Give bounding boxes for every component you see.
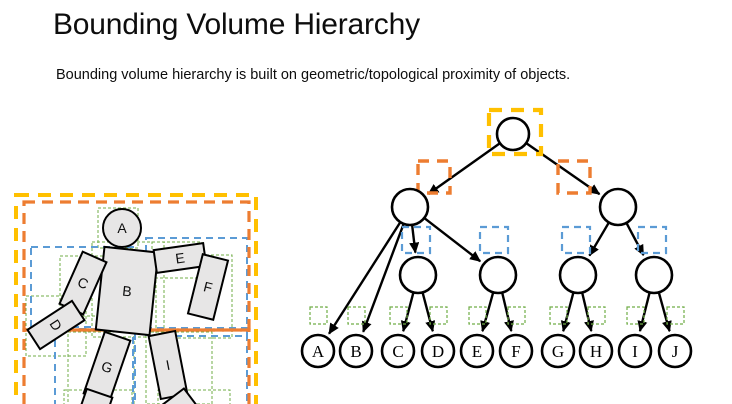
tree-marker-level1: [418, 161, 450, 193]
tree-edge: [563, 293, 573, 331]
right-figure-tree: ABCDEFGHIJ: [290, 95, 732, 395]
page-subtitle: Bounding volume hierarchy is built on ge…: [56, 67, 570, 83]
tree-edge: [423, 293, 433, 331]
slide-canvas: Bounding Volume Hierarchy Bounding volum…: [0, 0, 732, 404]
tree-node-level1-0[interactable]: [392, 189, 428, 225]
tree-node-level2-0[interactable]: [400, 257, 436, 293]
tree-edge: [403, 293, 413, 331]
tree-node-root[interactable]: [497, 118, 529, 150]
tree-edge: [640, 293, 650, 331]
tree-edges: [329, 143, 670, 333]
tree-marker-level3: [550, 307, 567, 324]
tree-edge: [482, 293, 493, 331]
tree-edge: [425, 218, 481, 261]
tree-edge: [412, 225, 415, 252]
tree-leaf-label-d: D: [432, 342, 444, 361]
tree-leaf-label-b: B: [350, 342, 361, 361]
tree-marker-level3: [390, 307, 407, 324]
tree-marker-level3: [348, 307, 365, 324]
tree-marker-level2: [480, 227, 508, 253]
tree-edge: [363, 224, 403, 331]
tree-edge: [627, 223, 644, 255]
tree-leaf-label-h: H: [590, 342, 602, 361]
tree-edge: [502, 293, 511, 331]
page-title: Bounding Volume Hierarchy: [53, 8, 420, 42]
tree-edge: [582, 293, 591, 331]
tree-leaf-label-c: C: [392, 342, 403, 361]
tree-marker-level3: [310, 307, 327, 324]
tree-leaf-label-g: G: [552, 342, 564, 361]
tree-node-level2-3[interactable]: [636, 257, 672, 293]
tree-node-level2-1[interactable]: [480, 257, 516, 293]
tree-leaf-label-i: I: [632, 342, 638, 361]
tree-edge: [428, 144, 499, 194]
tree-leaf-label-e: E: [472, 342, 482, 361]
tree-leaf-label-a: A: [312, 342, 325, 361]
tree-marker-level3: [588, 307, 605, 324]
tree-edge: [659, 293, 670, 331]
body-part-label-b: B: [122, 283, 133, 300]
tree-marker-level3: [430, 307, 447, 324]
bvh-tree-svg: ABCDEFGHIJ: [290, 95, 732, 395]
tree-marker-level2: [638, 227, 666, 253]
tree-edge: [589, 223, 608, 256]
left-figure-body-hierarchy: ABCDEFGHIJ: [0, 90, 290, 400]
tree-node-level1-1[interactable]: [600, 189, 636, 225]
tree-leaf-label-j: J: [672, 342, 679, 361]
tree-marker-level3: [508, 307, 525, 324]
bv-box-level1: [24, 330, 249, 404]
body-bounding-volume-svg: ABCDEFGHIJ: [0, 90, 290, 400]
tree-marker-level3: [469, 307, 486, 324]
tree-node-level2-2[interactable]: [560, 257, 596, 293]
tree-level1-orange-markers: [418, 161, 590, 193]
body-part-label-a: A: [117, 220, 127, 236]
tree-leaf-label-f: F: [511, 342, 520, 361]
tree-marker-level3: [667, 307, 684, 324]
tree-marker-level2: [562, 227, 590, 253]
